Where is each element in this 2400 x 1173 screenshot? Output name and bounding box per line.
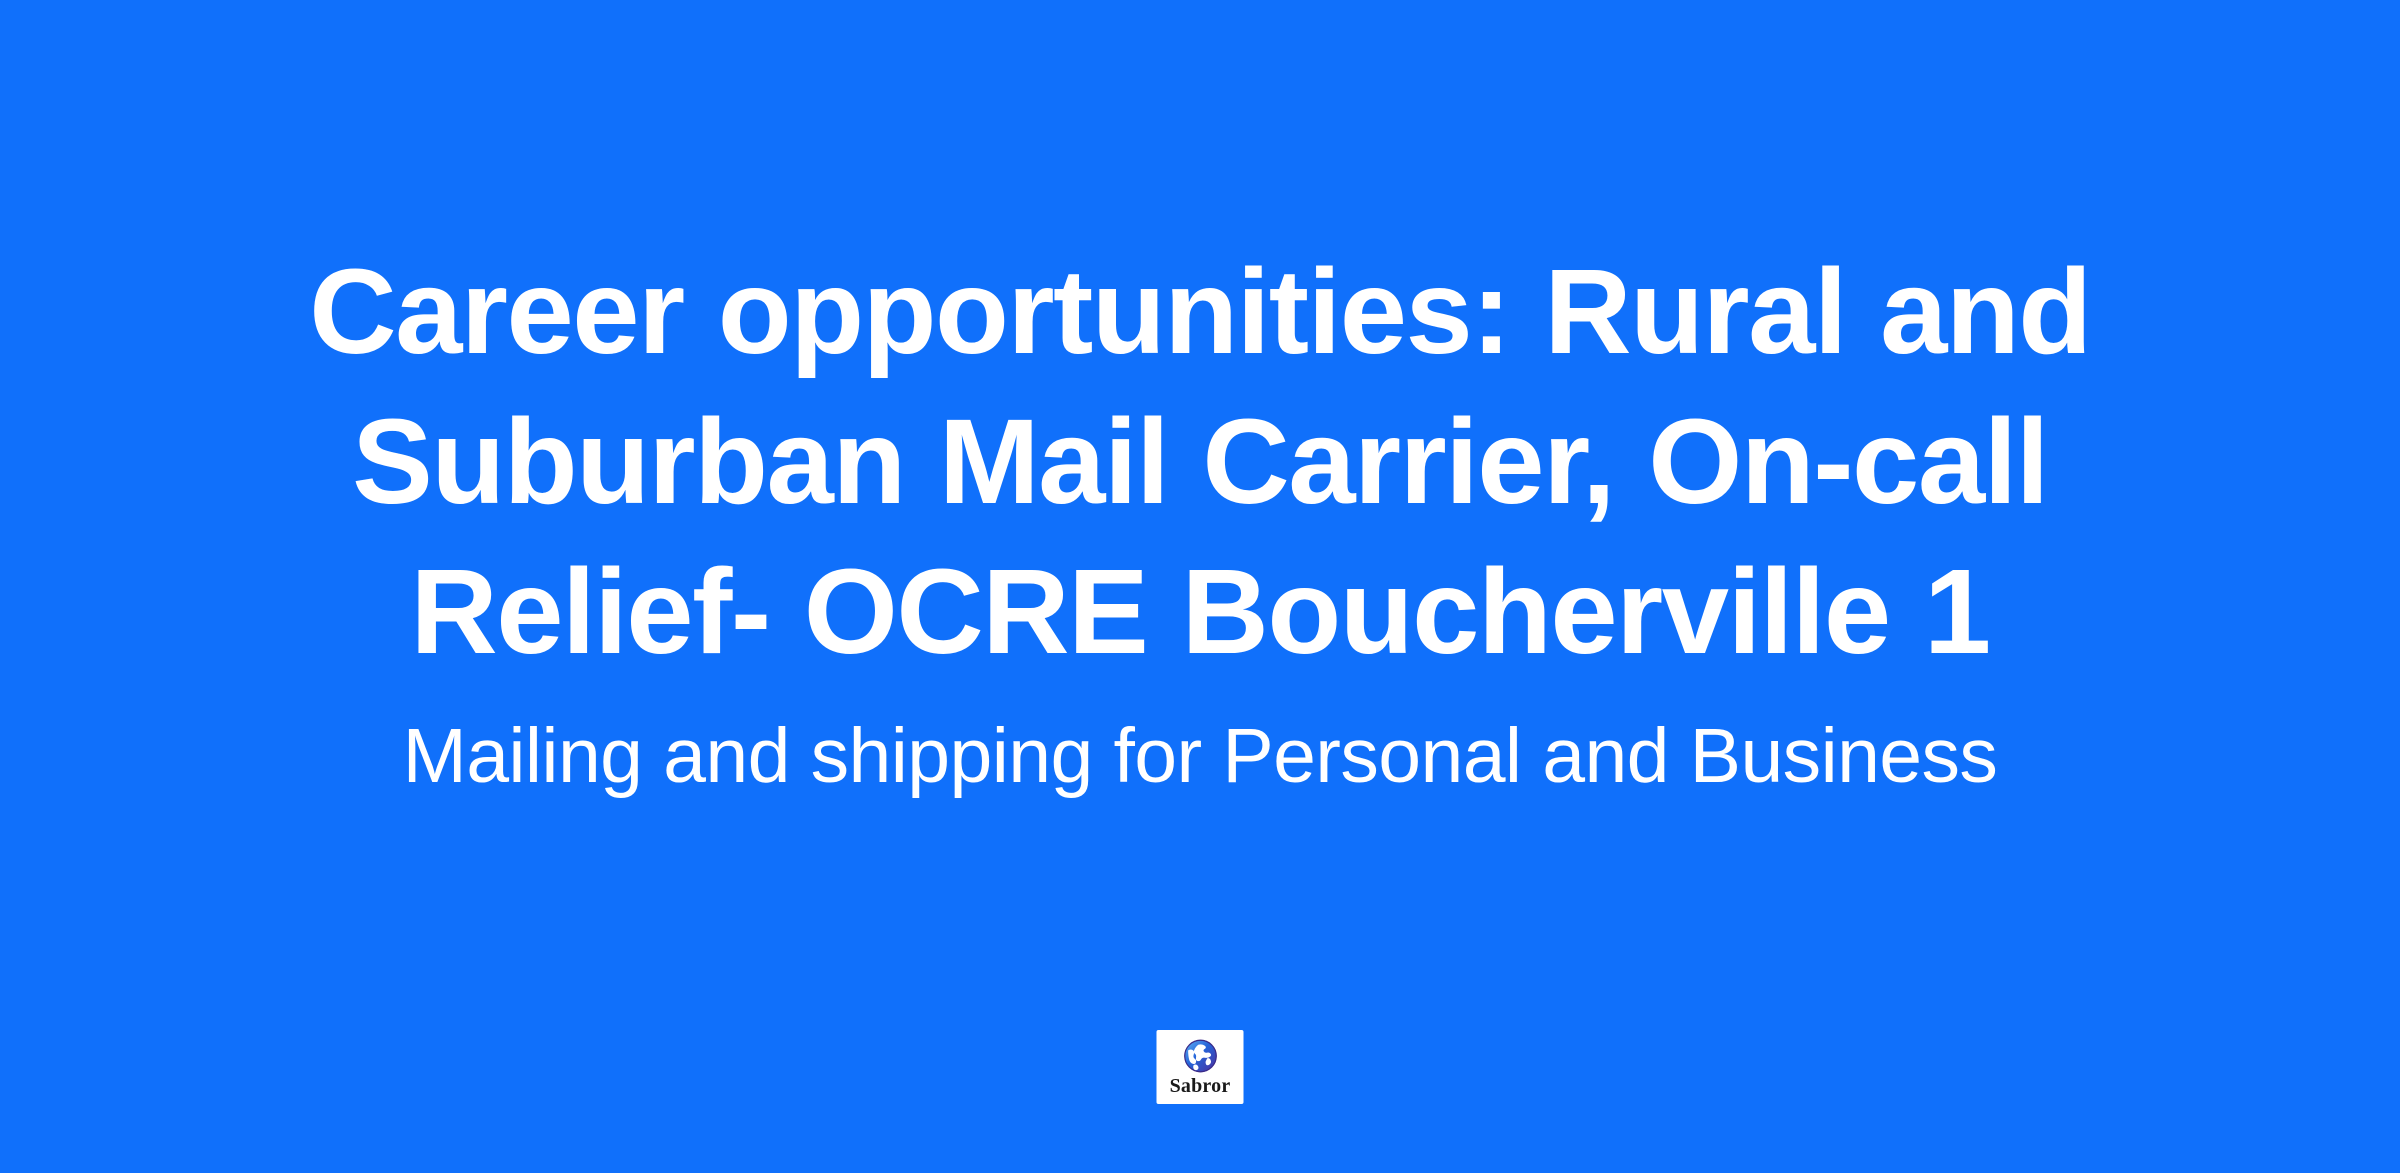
hero-banner: Career opportunities: Rural and Suburban… <box>0 0 2400 1173</box>
page-title: Career opportunities: Rural and Suburban… <box>300 236 2100 686</box>
globe-icon <box>1182 1038 1218 1074</box>
hero-text-block: Career opportunities: Rural and Suburban… <box>300 236 2100 804</box>
page-subtitle: Mailing and shipping for Personal and Bu… <box>300 708 2100 804</box>
page-title-line-3: Relief- OCRE Boucherville 1 <box>410 543 1989 679</box>
page-title-line-2: Suburban Mail Carrier, On-call <box>352 393 2048 529</box>
brand-name: Sabror <box>1170 1075 1231 1097</box>
brand-logo[interactable]: Sabror <box>1157 1030 1244 1104</box>
page-title-line-1: Career opportunities: Rural and <box>309 243 2090 379</box>
